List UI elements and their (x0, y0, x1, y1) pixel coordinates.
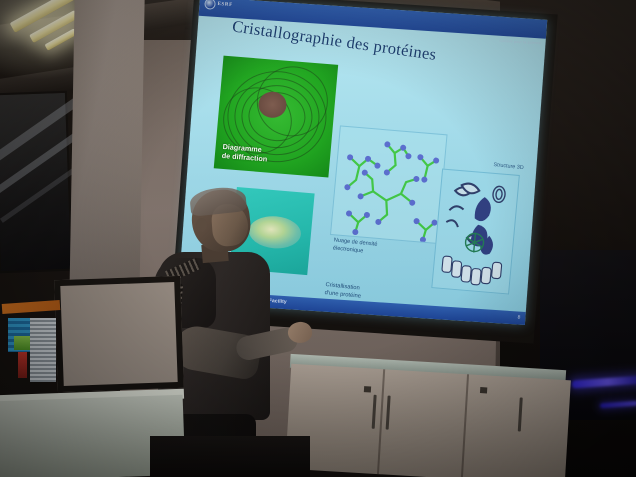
cabinet-lock[interactable] (480, 387, 487, 393)
floor-shadow (150, 436, 310, 477)
cabinet-lock[interactable] (364, 386, 371, 392)
protein-ribbon-svg (432, 170, 520, 295)
equipment-red-module (18, 352, 27, 378)
structure-3d-image (431, 169, 520, 295)
slide-page-number: 8 (517, 314, 520, 320)
structure-3d-label: Structure 3D (493, 162, 524, 171)
monitor (54, 276, 184, 392)
diffraction-label: Diagramme de diffraction (221, 142, 268, 164)
molecular-model-svg (331, 126, 448, 244)
equipment-orange-panel (2, 300, 61, 314)
pillar-shading (69, 0, 144, 306)
cabinet-divider (377, 369, 385, 474)
electron-density-image (330, 125, 448, 244)
cabinet-handle[interactable] (386, 396, 391, 430)
cabinet-bank (285, 364, 571, 477)
cabinet-divider (461, 374, 469, 477)
equipment-grey-module (30, 318, 56, 382)
logo-label: ESRF (217, 1, 233, 8)
cabinet-handle[interactable] (518, 397, 523, 431)
cabinet-handle[interactable] (372, 395, 377, 429)
window (0, 91, 73, 273)
diffraction-image: Diagramme de diffraction (214, 56, 338, 178)
presenter-ear (196, 218, 207, 232)
pillar (69, 0, 144, 306)
slide-tagline: lumière pour la science (500, 39, 542, 45)
conference-room-photo: ESRF lumière pour la science Cristallogr… (0, 0, 636, 477)
logo-circle-icon (204, 0, 216, 10)
esrf-logo: ESRF (204, 0, 233, 11)
